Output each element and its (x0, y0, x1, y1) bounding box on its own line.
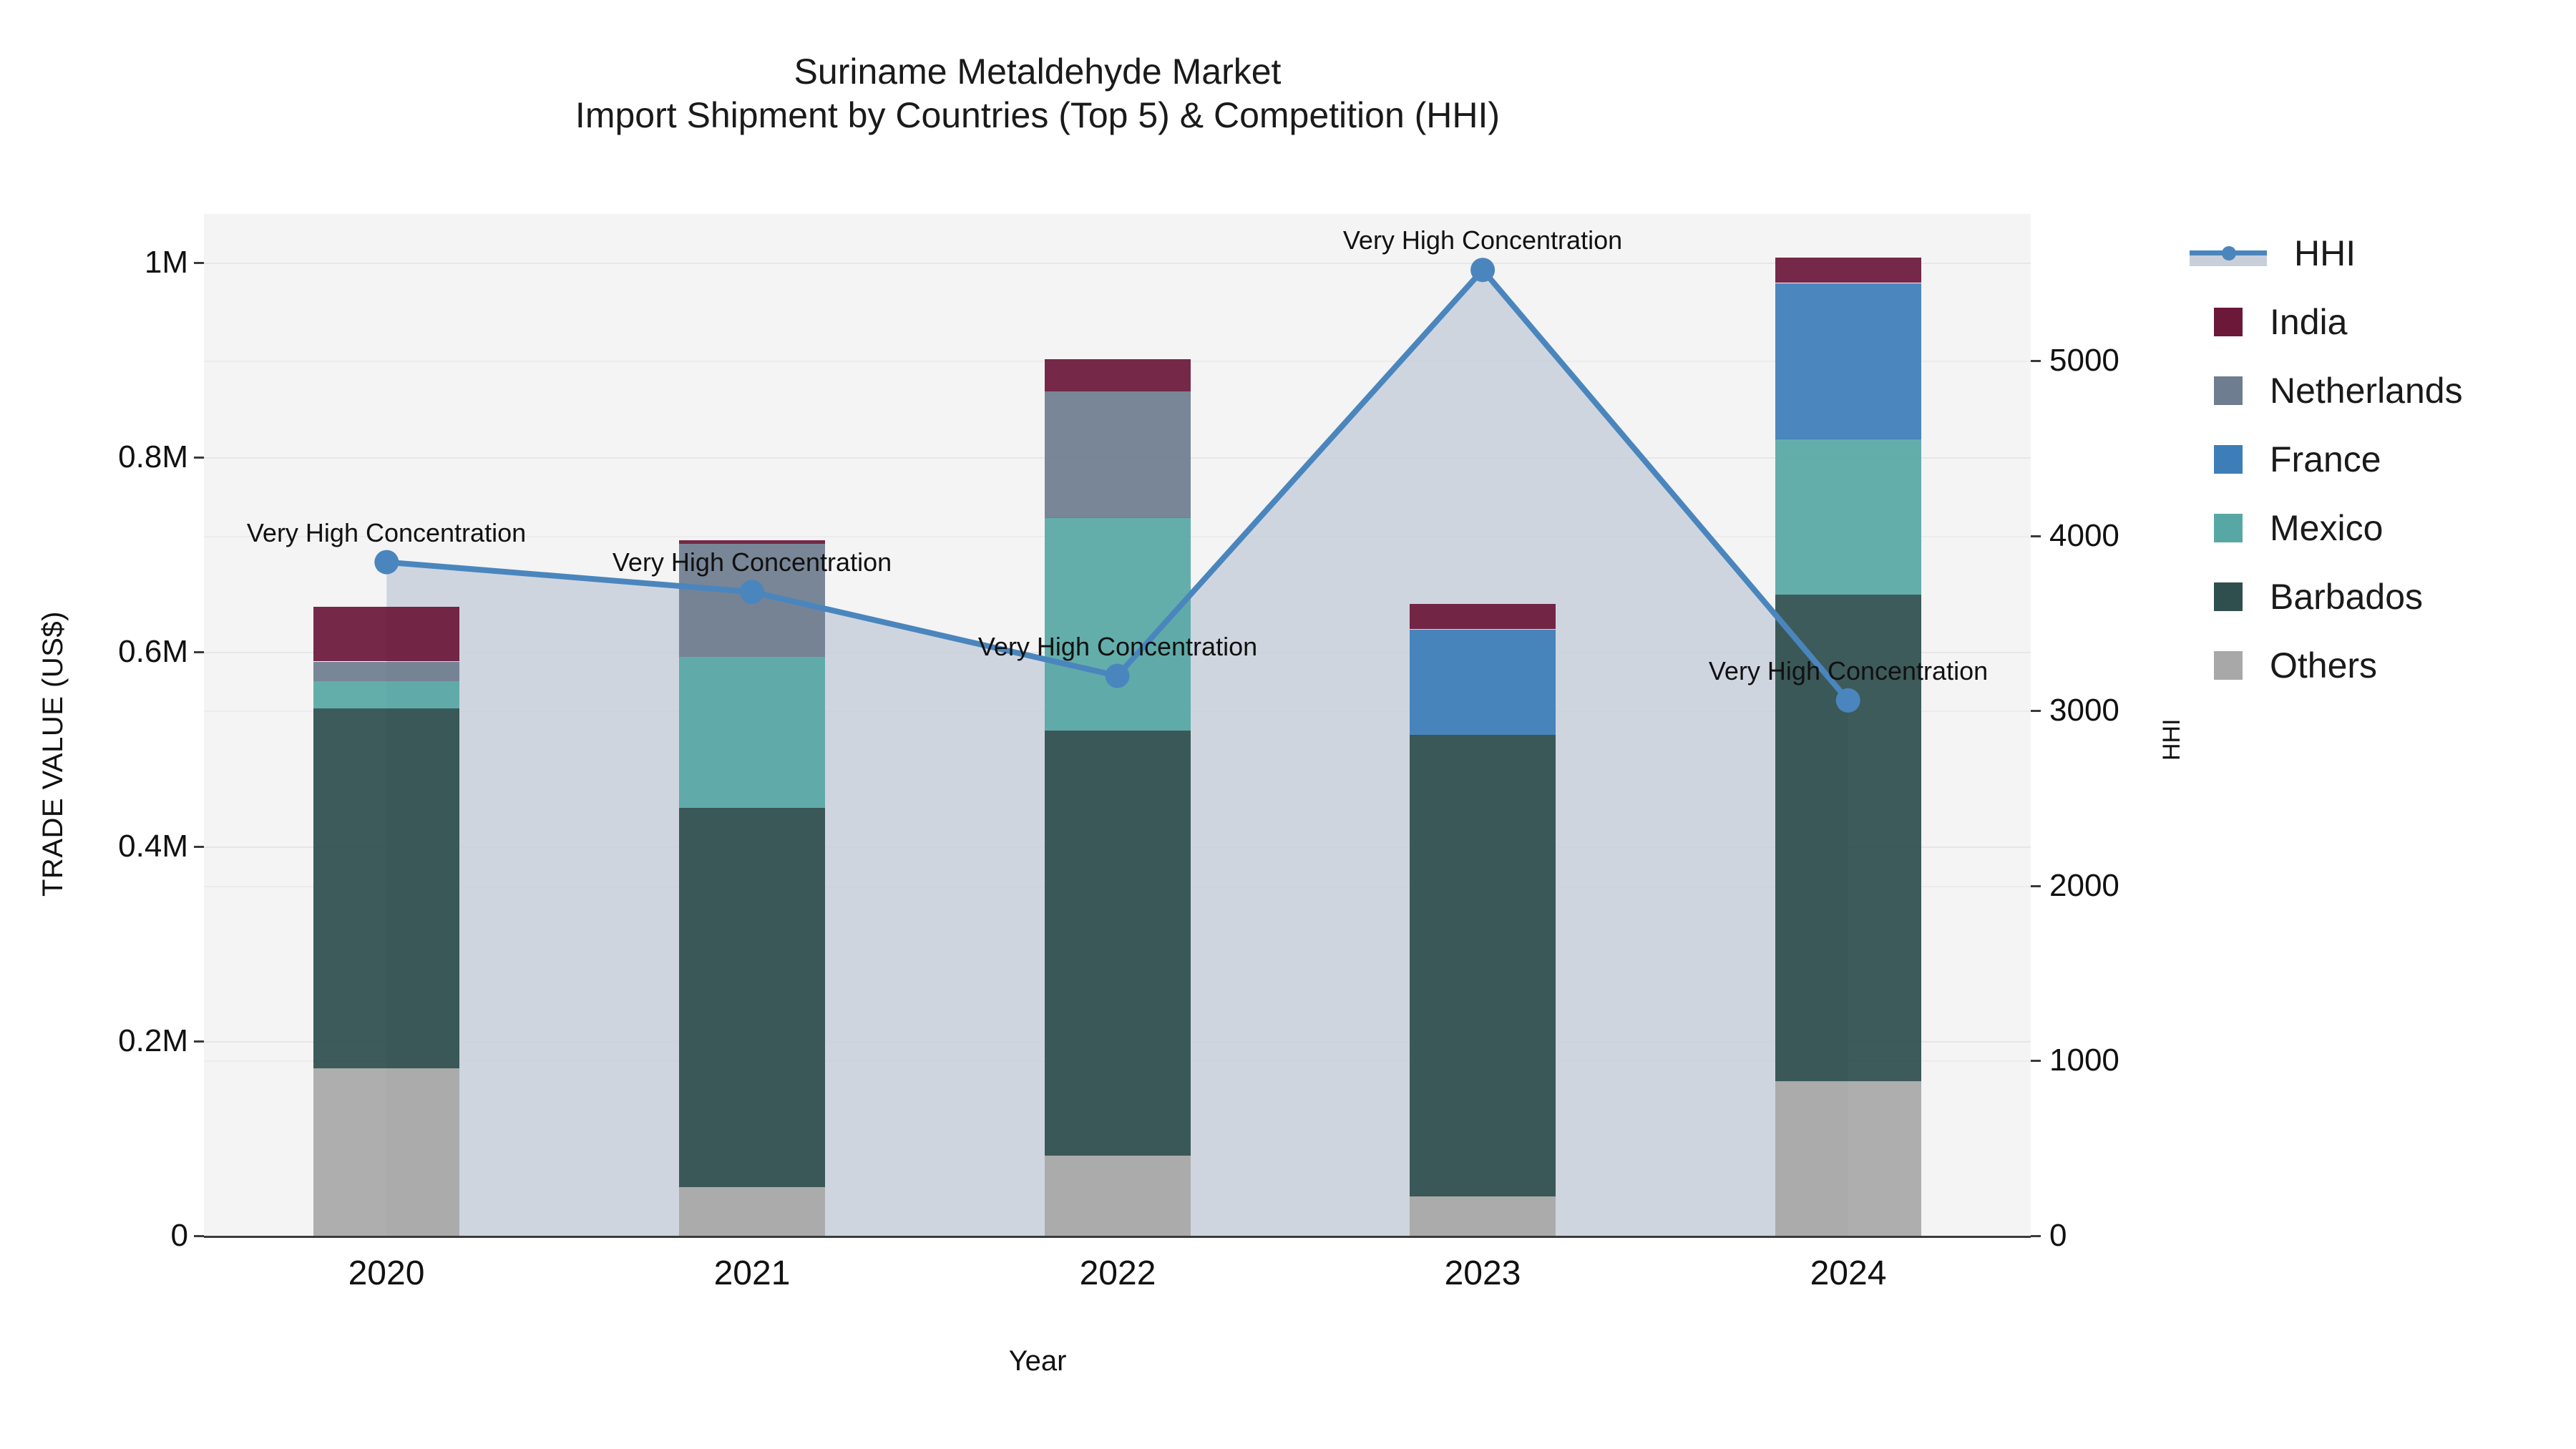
legend-label: India (2270, 301, 2347, 343)
bar-segment-mexico (1775, 439, 1921, 595)
bar-segment-others (679, 1187, 825, 1236)
bar-segment-barbados (313, 708, 459, 1068)
bar-segment-netherlands (1045, 391, 1191, 518)
annotation-2023: Very High Concentration (1343, 225, 1622, 255)
legend-swatch-icon (2214, 308, 2243, 336)
x-tick-2022: 2022 (1080, 1254, 1156, 1293)
y-tick-mark-right (2031, 535, 2041, 537)
y-tick-mark-right (2031, 360, 2041, 362)
y-tick-left-0: 0 (0, 1218, 188, 1254)
y-axis-left-label: TRADE VALUE (US$) (37, 611, 69, 897)
y-tick-right-5000: 5000 (2049, 343, 2119, 379)
bar-segment-netherlands (313, 662, 459, 681)
y-tick-mark-left (194, 457, 204, 459)
legend-swatch-icon (2214, 582, 2243, 611)
legend-item-barbados[interactable]: Barbados (2190, 572, 2463, 621)
legend-swatch-icon (2214, 514, 2243, 542)
legend-label: Netherlands (2270, 370, 2463, 411)
x-axis-label: Year (0, 1345, 2075, 1377)
legend-item-india[interactable]: India (2190, 298, 2463, 346)
y-tick-mark-right (2031, 885, 2041, 887)
bar-segment-barbados (679, 808, 825, 1187)
y-tick-left-0.8M: 0.8M (0, 439, 188, 475)
x-tick-2020: 2020 (348, 1254, 425, 1293)
bar-segment-india (1410, 604, 1556, 629)
x-tick-2021: 2021 (714, 1254, 791, 1293)
legend-label: Barbados (2270, 576, 2423, 618)
bar-segment-mexico (313, 681, 459, 708)
y-tick-mark-right (2031, 1060, 2041, 1062)
legend-item-others[interactable]: Others (2190, 641, 2463, 690)
y-tick-mark-right (2031, 710, 2041, 712)
legend-swatch-icon (2214, 445, 2243, 474)
y-tick-mark-left (194, 651, 204, 653)
chart-canvas: Suriname Metaldehyde Market Import Shipm… (0, 0, 2576, 1449)
x-axis-line (204, 1236, 2031, 1238)
y-tick-left-1M: 1M (0, 245, 188, 280)
legend-line-marker-icon (2190, 239, 2267, 268)
annotation-2022: Very High Concentration (978, 632, 1257, 662)
legend-label: France (2270, 439, 2381, 480)
bar-segment-others (1775, 1081, 1921, 1236)
legend-swatch-icon (2214, 651, 2243, 680)
annotation-2024: Very High Concentration (1709, 656, 1988, 686)
bar-segment-india (1775, 258, 1921, 283)
y-tick-right-2000: 2000 (2049, 868, 2119, 904)
y-tick-mark-left (194, 262, 204, 264)
y-tick-right-3000: 3000 (2049, 693, 2119, 728)
legend-swatch-icon (2214, 376, 2243, 405)
legend-item-netherlands[interactable]: Netherlands (2190, 366, 2463, 415)
x-tick-2023: 2023 (1445, 1254, 1521, 1293)
bar-segment-barbados (1410, 735, 1556, 1196)
y-tick-right-0: 0 (2049, 1218, 2067, 1254)
y-axis-right-label: HHI (2158, 718, 2186, 761)
bar-segment-india (679, 540, 825, 544)
y-tick-left-0.6M: 0.6M (0, 634, 188, 670)
y-tick-left-0.2M: 0.2M (0, 1023, 188, 1059)
legend: HHIIndiaNetherlandsFranceMexicoBarbadosO… (2190, 229, 2463, 710)
annotation-2020: Very High Concentration (247, 518, 526, 548)
legend-item-hhi[interactable]: HHI (2190, 229, 2463, 278)
bar-segment-mexico (1045, 517, 1191, 731)
bar-segment-barbados (1045, 731, 1191, 1156)
bar-segment-france (1410, 630, 1556, 735)
legend-item-france[interactable]: France (2190, 435, 2463, 484)
y-tick-mark-right (2031, 1235, 2041, 1237)
y-tick-right-1000: 1000 (2049, 1043, 2119, 1078)
bar-segment-others (1045, 1156, 1191, 1236)
y-tick-mark-left (194, 846, 204, 848)
y-tick-mark-left (194, 1235, 204, 1237)
bar-segment-france (1775, 283, 1921, 439)
bar-segment-india (1045, 359, 1191, 391)
bar-segment-mexico (679, 657, 825, 808)
annotation-2021: Very High Concentration (613, 547, 892, 577)
y-tick-mark-left (194, 1040, 204, 1043)
legend-item-mexico[interactable]: Mexico (2190, 504, 2463, 552)
bar-segment-india (313, 607, 459, 661)
y-tick-right-4000: 4000 (2049, 518, 2119, 554)
y-tick-left-0.4M: 0.4M (0, 829, 188, 864)
bar-segment-others (1410, 1196, 1556, 1236)
legend-label: HHI (2294, 233, 2356, 274)
legend-label: Mexico (2270, 507, 2383, 549)
legend-label: Others (2270, 645, 2377, 686)
bar-segment-others (313, 1068, 459, 1236)
x-tick-2024: 2024 (1810, 1254, 1887, 1293)
